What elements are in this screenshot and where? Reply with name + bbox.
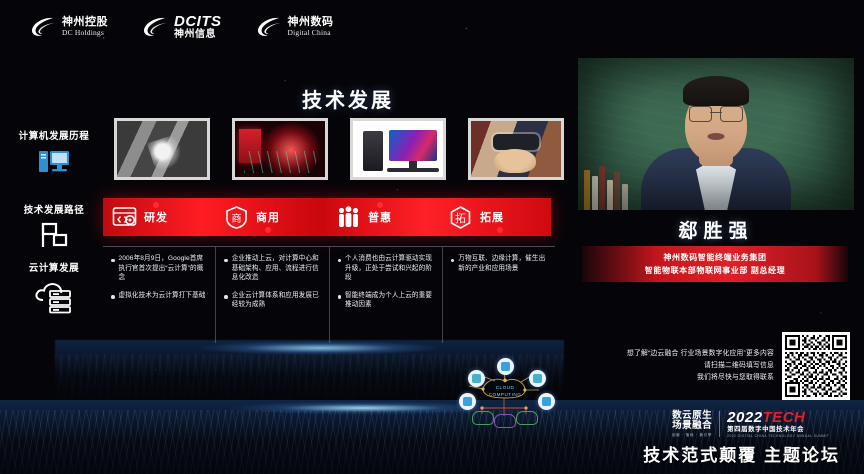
logo-label-en: DC Holdings xyxy=(62,29,108,37)
row-label-text: 云计算发展 xyxy=(6,260,102,274)
hexagon-tuo-icon: 拓 xyxy=(448,205,473,230)
diagram-node-server xyxy=(459,393,476,410)
cloud-dev-bullet-table: 2006年8月9日，Google首席执行官首次提出“云计算”的概念 虚拟化技术为… xyxy=(103,246,555,343)
speaker-org-line-1: 神州数码智能终端业务集团 xyxy=(663,252,766,263)
diagram-node-application xyxy=(468,370,485,387)
photo-vr-headset xyxy=(468,118,564,180)
diagram-node-network xyxy=(538,393,555,410)
bullet-text: 万物互联、边缘计算，催生出新的产业和应用场景 xyxy=(458,254,547,273)
dc-swoosh-icon xyxy=(142,16,168,38)
diagram-cloud-left xyxy=(472,411,494,425)
bullet-text: 智能终端成为个人上云的重要推动因素 xyxy=(345,291,434,310)
stage-dot xyxy=(497,227,503,233)
qr-line-2: 请扫描二维码填写信息 xyxy=(582,360,774,372)
video-vignette xyxy=(578,58,854,210)
bullet-dot xyxy=(338,295,342,299)
logo-dc-holdings: 神州控股 DC Holdings xyxy=(30,16,108,38)
qr-code-image xyxy=(785,335,847,397)
path-stage-label: 商用 xyxy=(256,209,280,225)
diagram-cloud-right xyxy=(516,411,538,425)
bullet-dot xyxy=(224,259,228,263)
path-stage-label: 拓展 xyxy=(480,209,504,225)
list-item: 万物互联、边缘计算，催生出新的产业和应用场景 xyxy=(451,254,547,273)
path-stage-label: 普惠 xyxy=(368,209,392,225)
stage-dot xyxy=(265,227,271,233)
desktop-computer-icon xyxy=(37,147,71,177)
flow-path-icon xyxy=(37,220,71,250)
photo-modern-pc xyxy=(350,118,446,180)
speaker-title-banner: 神州数码智能终端业务集团 智能物联本部物联网事业部 副总经理 xyxy=(582,246,848,282)
qr-line-3: 我们将尽快与您取得联系 xyxy=(582,372,774,384)
row-label-tech-path: 技术发展路径 xyxy=(6,202,102,255)
logo-label-en: DCITS xyxy=(174,14,222,30)
list-item: 智能终端成为个人上云的重要推动因素 xyxy=(338,291,434,310)
presentation-slide: 技术发展 计算机发展历程 技术发展路径 xyxy=(0,70,566,370)
bullet-column-1: 2006年8月9日，Google首席执行官首次提出“云计算”的概念 虚拟化技术为… xyxy=(103,247,216,343)
list-item: 2006年8月9日，Google首席执行官首次提出“云计算”的概念 xyxy=(111,254,207,283)
dc-swoosh-icon xyxy=(30,16,56,38)
path-stage-inclusive[interactable]: 普惠 xyxy=(327,205,439,230)
logo-digital-china: 神州数码 Digital China xyxy=(256,16,334,38)
page-title: 技术发展 xyxy=(0,84,566,113)
tech-path-band: 研发 商 商用 普惠 拓 拓展 xyxy=(103,198,551,236)
row-label-text: 计算机发展历程 xyxy=(6,128,102,142)
photo-tianhe-supercomputer xyxy=(232,118,328,180)
list-item: 企业云计算体系和应用发展已经较为成熟 xyxy=(224,291,320,310)
bullet-dot xyxy=(338,259,342,263)
photo-strip xyxy=(114,118,564,180)
cloud-center-label: CLOUD COMPUTING xyxy=(481,385,529,399)
row-label-cloud-dev: 云计算发展 xyxy=(6,260,102,319)
qr-callout: 想了解“边云融合 行业场景数字化应用”更多内容 请扫描二维码填写信息 我们将尽快… xyxy=(582,328,850,404)
bullet-text: 企业云计算体系和应用发展已经较为成熟 xyxy=(232,291,321,310)
bullet-text: 企业推动上云，对计算中心和基础架构、应用、流程进行信息化改造 xyxy=(232,254,321,283)
path-stage-rd[interactable]: 研发 xyxy=(103,205,215,230)
bullet-text: 2006年8月9日，Google首席执行官首次提出“云计算”的概念 xyxy=(119,254,208,283)
svg-text:商: 商 xyxy=(232,212,242,225)
dc-swoosh-icon xyxy=(256,16,282,38)
stage-dot xyxy=(153,202,159,208)
qr-line-1: 想了解“边云融合 行业场景数字化应用”更多内容 xyxy=(582,348,774,360)
bullet-column-3: 个人消费也由云计算驱动实现升级，正处于尝试和兴起的阶段 智能终端成为个人上云的重… xyxy=(330,247,443,343)
speaker-org-line-2: 智能物联本部物联网事业部 副总经理 xyxy=(645,265,785,276)
brand-logo-bar: 神州控股 DC Holdings DCITS 神州信息 神州数码 Digital… xyxy=(30,14,334,40)
cloud-server-icon xyxy=(32,278,76,314)
bullet-dot xyxy=(451,259,455,263)
people-group-icon xyxy=(336,205,361,230)
bullet-column-2: 企业推动上云，对计算中心和基础架构、应用、流程进行信息化改造 企业云计算体系和应… xyxy=(216,247,329,343)
path-stage-expansion[interactable]: 拓 拓展 xyxy=(439,205,551,230)
speaker-panel: 郄胜强 神州数码智能终端业务集团 智能物联本部物联网事业部 副总经理 想了解“边… xyxy=(568,56,864,474)
bullet-text: 虚拟化技术为云计算打下基础 xyxy=(119,291,206,301)
bullet-dot xyxy=(111,259,115,263)
logo-label-en: Digital China xyxy=(288,29,334,37)
speaker-name: 郄胜强 xyxy=(568,216,864,243)
bullet-dot xyxy=(224,295,228,299)
list-item: 个人消费也由云计算驱动实现升级，正处于尝试和兴起的阶段 xyxy=(338,254,434,283)
bullet-dot xyxy=(111,295,115,299)
bullet-text: 个人消费也由云计算驱动实现升级，正处于尝试和兴起的阶段 xyxy=(345,254,434,283)
list-item: 企业推动上云，对计算中心和基础架构、应用、流程进行信息化改造 xyxy=(224,254,320,283)
list-item: 虚拟化技术为云计算打下基础 xyxy=(111,291,207,301)
row-label-computer-history: 计算机发展历程 xyxy=(6,128,102,182)
diagram-node-database xyxy=(529,370,546,387)
qr-instruction-text: 想了解“边云融合 行业场景数字化应用”更多内容 请扫描二维码填写信息 我们将尽快… xyxy=(582,348,774,384)
logo-dcits: DCITS 神州信息 xyxy=(142,14,222,40)
photo-early-computer-room xyxy=(114,118,210,180)
svg-text:拓: 拓 xyxy=(455,211,466,225)
diagram-node-storage xyxy=(497,358,514,375)
code-gear-icon xyxy=(112,205,137,230)
path-stage-label: 研发 xyxy=(144,209,168,225)
logo-label-cn: 神州信息 xyxy=(174,30,222,41)
cloud-computing-diagram: CLOUD COMPUTING xyxy=(443,356,565,428)
path-stage-commercial[interactable]: 商 商用 xyxy=(215,205,327,230)
diagram-cloud-center xyxy=(494,414,516,428)
qr-code[interactable] xyxy=(782,332,850,400)
row-label-text: 技术发展路径 xyxy=(6,202,102,216)
stage-dot xyxy=(377,202,383,208)
shield-shang-icon: 商 xyxy=(224,205,249,230)
speaker-video-feed[interactable] xyxy=(578,58,854,210)
bullet-column-4: 万物互联、边缘计算，催生出新的产业和应用场景 xyxy=(443,247,555,343)
